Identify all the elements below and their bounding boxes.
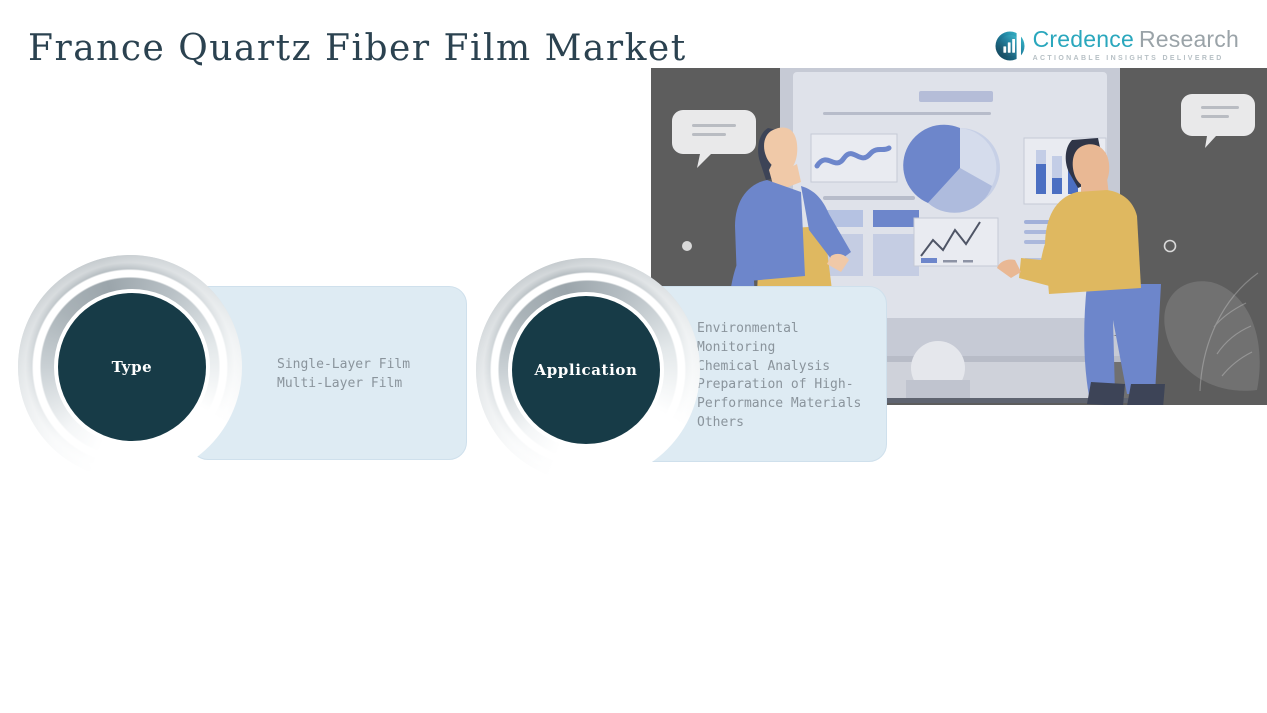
- segment-items-list-application: Environmental Monitoring Chemical Analys…: [697, 320, 861, 433]
- dot-decoration-icon: [682, 241, 692, 251]
- segment-circle-label-type: Type: [112, 358, 153, 376]
- brand-logo: CredenceResearch Actionable Insights Del…: [994, 28, 1239, 62]
- logo-suffix-text: Research: [1139, 26, 1239, 52]
- logo-text: CredenceResearch Actionable Insights Del…: [1033, 28, 1239, 62]
- segment-circle-label-application: Application: [534, 361, 637, 379]
- logo-tagline: Actionable Insights Delivered: [1033, 55, 1239, 62]
- logo-brand-text: Credence: [1033, 26, 1134, 52]
- bar-chart-circle-logo-icon: [994, 30, 1026, 62]
- page-title: France Quartz Fiber Film Market: [28, 26, 687, 72]
- logo-wordmark: CredenceResearch: [1033, 28, 1239, 51]
- segment-circle-type[interactable]: Type: [58, 293, 206, 441]
- segment-items-list-type: Single-Layer Film Multi-Layer Film: [277, 356, 410, 394]
- segment-circle-application[interactable]: Application: [512, 296, 660, 444]
